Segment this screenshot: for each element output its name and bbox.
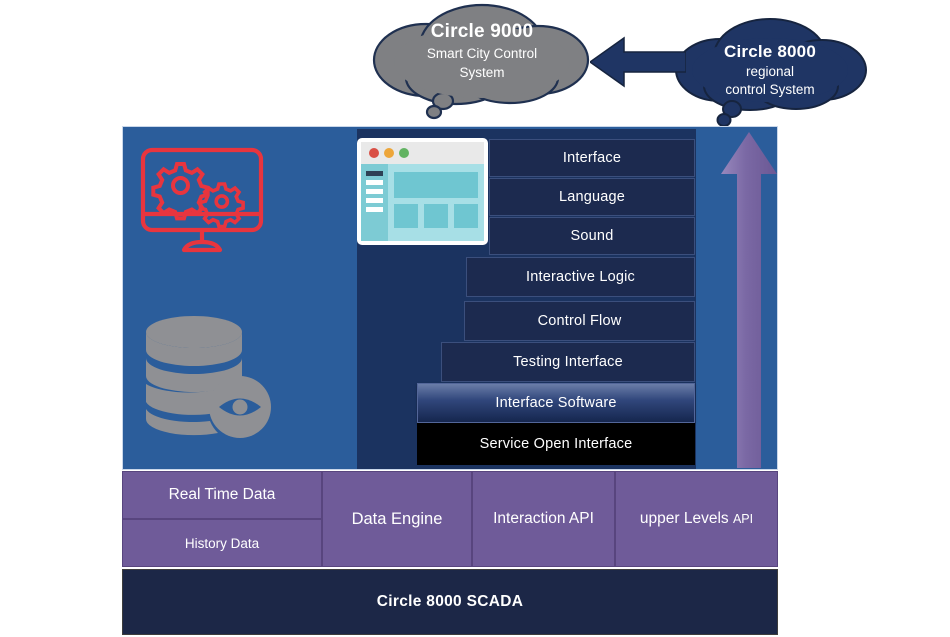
stack-bar-label: Control Flow [538,313,622,329]
cell-label: Real Time Data [169,486,276,504]
stack-bar-label: Interface [563,150,621,166]
scada-footer-label: Circle 8000 SCADA [377,593,523,611]
stack-bar-label: Interface Software [495,395,616,411]
stack-bar-sound[interactable]: Sound [489,217,695,255]
scada-footer-bar[interactable]: Circle 8000 SCADA [122,569,778,635]
cell-label: Interaction API [493,510,594,528]
stack-bar-interface-software[interactable]: Interface Software [417,383,695,423]
cell-data-engine[interactable]: Data Engine [322,471,472,567]
stack-bar-language[interactable]: Language [489,178,695,216]
cell-real-time-data[interactable]: Real Time Data [122,471,322,519]
stack-bar-service-open-interface[interactable]: Service Open Interface [417,423,695,465]
stack-bar-label: Sound [571,228,614,244]
window-dot-green [399,148,409,158]
stack-bar-label: Service Open Interface [480,436,633,452]
monitor-gears-icon [140,147,270,257]
cloud-9000-shape [368,2,596,122]
cell-label-main: upper Levels [640,510,733,527]
architecture-panel: Interface Language Sound Interactive Log… [122,126,778,470]
stack-bar-label: Testing Interface [513,354,623,370]
cell-history-data[interactable]: History Data [122,519,322,567]
cloud-circle-9000[interactable]: Circle 9000 Smart City Control System [368,2,596,122]
stack-bar-interactive-logic[interactable]: Interactive Logic [466,257,695,297]
stack-bar-label: Interactive Logic [526,269,635,285]
cell-label-api: API [733,512,753,526]
stack-bar-control-flow[interactable]: Control Flow [464,301,695,341]
cell-label: upper Levels API [640,510,753,528]
stack-bar-label: Language [559,189,625,205]
cell-interaction-api[interactable]: Interaction API [472,471,615,567]
cell-label: Data Engine [352,510,443,529]
browser-window-mock [357,138,488,245]
cloud-circle-8000[interactable]: Circle 8000 regional control System [672,8,868,130]
cell-label: History Data [185,536,259,551]
data-layer-row: Real Time Data History Data Data Engine … [122,471,778,567]
cell-upper-levels-api[interactable]: upper Levels API [615,471,778,567]
database-eye-icon [143,314,273,439]
stack-bar-interface[interactable]: Interface [489,139,695,177]
diagram-canvas: Circle 9000 Smart City Control System Ci… [0,0,950,637]
cloud-8000-shape [672,8,868,130]
arrow-up-icon [720,130,778,470]
window-dot-red [369,148,379,158]
window-dot-yellow [384,148,394,158]
arrow-left-icon [590,36,686,88]
stack-bar-testing-interface[interactable]: Testing Interface [441,342,695,382]
